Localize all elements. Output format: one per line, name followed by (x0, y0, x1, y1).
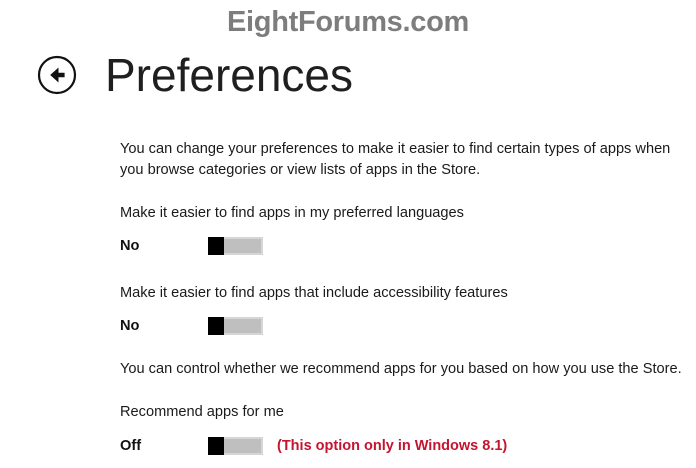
toggle-row-accessibility: No (120, 315, 686, 337)
preferences-content: You can change your preferences to make … (120, 139, 686, 457)
back-arrow-circle-glyph (37, 55, 77, 95)
setting-label-accessibility: Make it easier to find apps that include… (120, 283, 686, 303)
page-header: Preferences (34, 52, 353, 98)
toggle-switch-accessibility[interactable] (208, 317, 263, 335)
spacer-5 (120, 337, 686, 359)
setting-label-recommend-apps: Recommend apps for me (120, 402, 686, 422)
toggle-thumb (208, 437, 224, 455)
spacer-6 (120, 380, 686, 402)
toggle-switch-recommend-apps[interactable] (208, 437, 263, 455)
spacer-7 (120, 422, 686, 435)
back-arrow-circle-icon[interactable] (34, 52, 80, 98)
site-watermark: EightForums.com (0, 6, 696, 39)
toggle-state-accessibility: No (120, 315, 208, 337)
annotation-note: (This option only in Windows 8.1) (277, 435, 507, 457)
toggle-state-recommend-apps: Off (120, 435, 208, 457)
spacer-1 (120, 181, 686, 203)
toggle-state-preferred-languages: No (120, 235, 208, 257)
setting-label-preferred-languages: Make it easier to find apps in my prefer… (120, 203, 686, 223)
second-paragraph: You can control whether we recommend app… (120, 359, 686, 380)
toggle-row-recommend-apps: Off (This option only in Windows 8.1) (120, 435, 686, 457)
intro-paragraph: You can change your preferences to make … (120, 139, 686, 181)
spacer-3 (120, 257, 686, 283)
toggle-thumb (208, 317, 224, 335)
spacer-4 (120, 303, 686, 315)
spacer-2 (120, 223, 686, 235)
page-title: Preferences (105, 52, 353, 98)
toggle-thumb (208, 237, 224, 255)
toggle-switch-preferred-languages[interactable] (208, 237, 263, 255)
toggle-row-preferred-languages: No (120, 235, 686, 257)
